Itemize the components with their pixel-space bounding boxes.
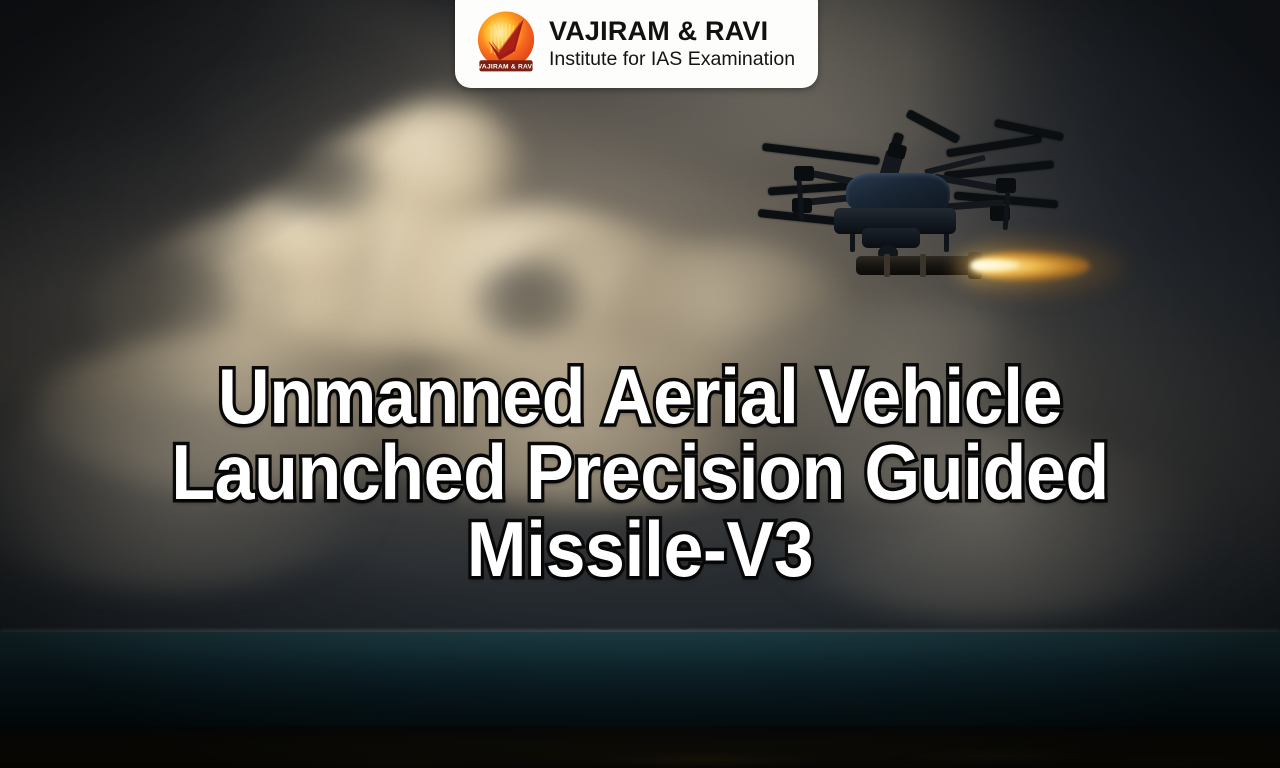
vajiram-and-ravi-logo-badge[interactable]: VAJIRAM & RAVI VAJIRAM & RAVI Institute … [455, 0, 818, 88]
hexacopter-drone [758, 118, 1058, 318]
logo-subtitle: Institute for IAS Examination [549, 48, 795, 71]
vajiram-ravi-checkmark-sun-logo: VAJIRAM & RAVI [469, 7, 543, 81]
logo-text-block: VAJIRAM & RAVI Institute for IAS Examina… [549, 17, 795, 72]
logo-title: VAJIRAM & RAVI [549, 17, 795, 45]
logo-ribbon-text: VAJIRAM & RAVI [478, 63, 534, 70]
edge-vignette [0, 0, 1280, 768]
muzzle-flash-core [972, 259, 1020, 271]
banner-canvas: Unmanned Aerial Vehicle Launched Precisi… [0, 0, 1280, 768]
